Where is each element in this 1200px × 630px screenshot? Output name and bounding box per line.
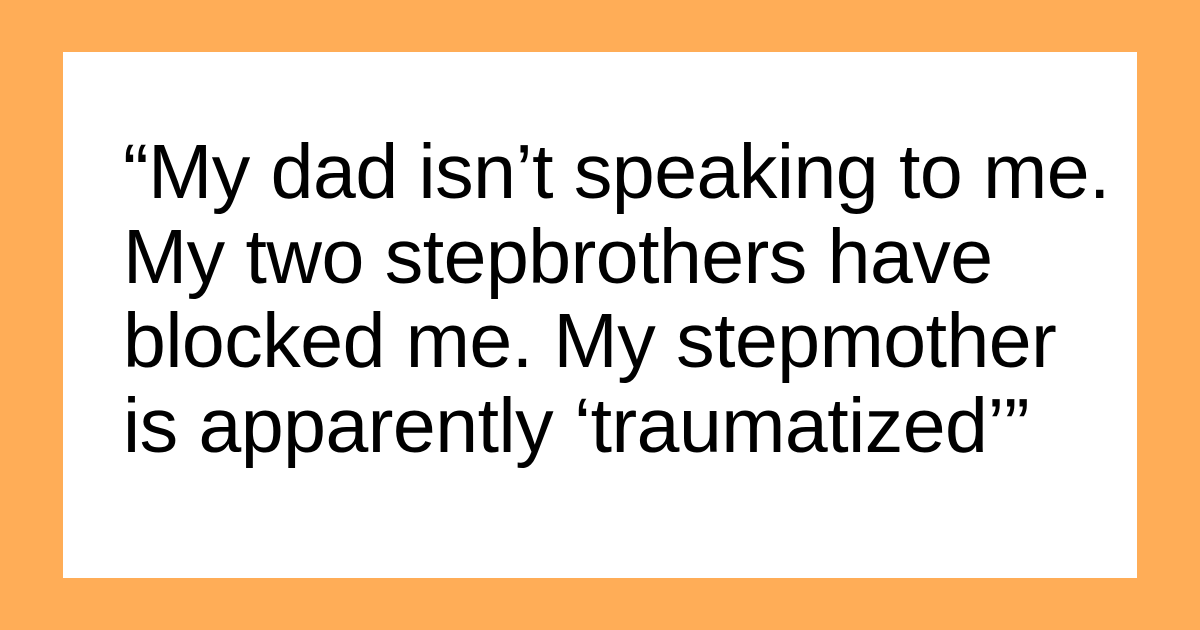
quote-line-3: blocked me. My stepmother (123, 299, 1093, 384)
quote-line-4: is apparently ‘traumatized’” (123, 384, 1093, 469)
quote-card: “My dad isn’t speaking to me. My two ste… (63, 52, 1137, 578)
quote-card-canvas: “My dad isn’t speaking to me. My two ste… (0, 0, 1200, 630)
quote-line-1: “My dad isn’t speaking to me. (123, 130, 1093, 215)
quote-line-2: My two stepbrothers have (123, 215, 1093, 300)
quote-text: “My dad isn’t speaking to me. My two ste… (123, 130, 1093, 468)
